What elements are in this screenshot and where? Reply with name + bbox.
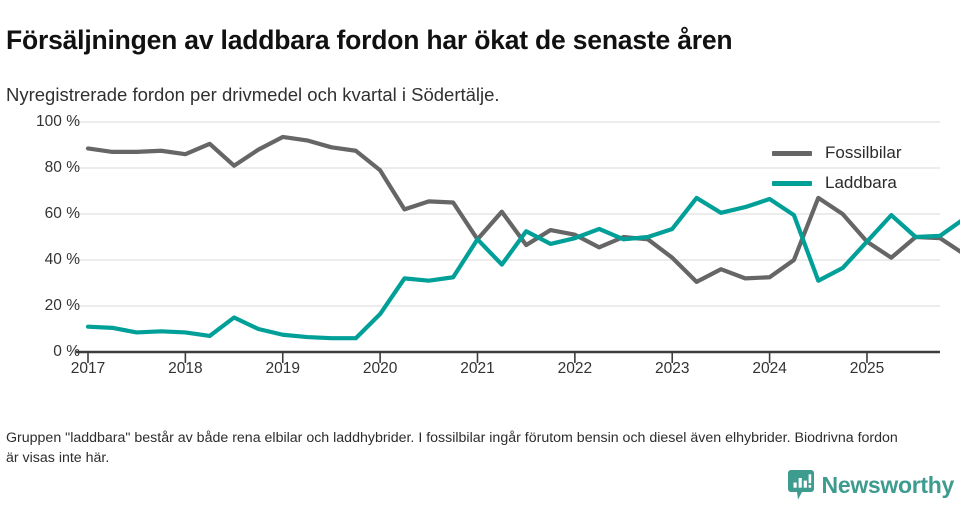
legend-swatch-laddbara (772, 181, 812, 186)
y-tick-label: 100 % (8, 113, 80, 131)
legend-item-fossilbilar: Fossilbilar (772, 138, 957, 168)
x-tick-label: 2018 (168, 360, 202, 378)
chart-page: Försäljningen av laddbara fordon har öka… (0, 0, 960, 505)
chart-plot-area: 0 %20 %40 %60 %80 %100 % 201720182019202… (0, 108, 960, 393)
y-tick-label: 40 % (8, 251, 80, 269)
x-tick-label: 2024 (752, 360, 786, 378)
x-tick-label: 2020 (363, 360, 397, 378)
legend-label-fossilbilar: Fossilbilar (825, 143, 902, 163)
x-tick-label: 2021 (460, 360, 494, 378)
x-tick-label: 2023 (655, 360, 689, 378)
x-tick-label: 2019 (265, 360, 299, 378)
page-subtitle: Nyregistrerade fordon per drivmedel och … (6, 83, 946, 107)
y-tick-label: 80 % (8, 159, 80, 177)
x-tick-label: 2025 (850, 360, 884, 378)
x-tick-label: 2017 (71, 360, 105, 378)
y-tick-label: 20 % (8, 297, 80, 315)
newsworthy-logo-text: Newsworthy (822, 472, 954, 498)
y-tick-label: 60 % (8, 205, 80, 223)
series-line-laddbara (88, 198, 960, 338)
legend-item-laddbara: Laddbara (772, 168, 957, 198)
x-tick-label: 2022 (558, 360, 592, 378)
page-title: Försäljningen av laddbara fordon har öka… (6, 24, 946, 56)
chart-legend: Fossilbilar Laddbara (772, 138, 957, 198)
y-axis-tick-labels: 0 %20 %40 %60 %80 %100 % (0, 108, 80, 393)
legend-label-laddbara: Laddbara (825, 173, 897, 193)
newsworthy-logo: Newsworthy (788, 470, 954, 500)
chart-footnote: Gruppen "laddbara" består av både rena e… (6, 428, 906, 468)
y-tick-label: 0 % (8, 343, 80, 361)
legend-swatch-fossilbilar (772, 151, 812, 156)
bar-chart-speech-bubble-icon (788, 470, 814, 500)
